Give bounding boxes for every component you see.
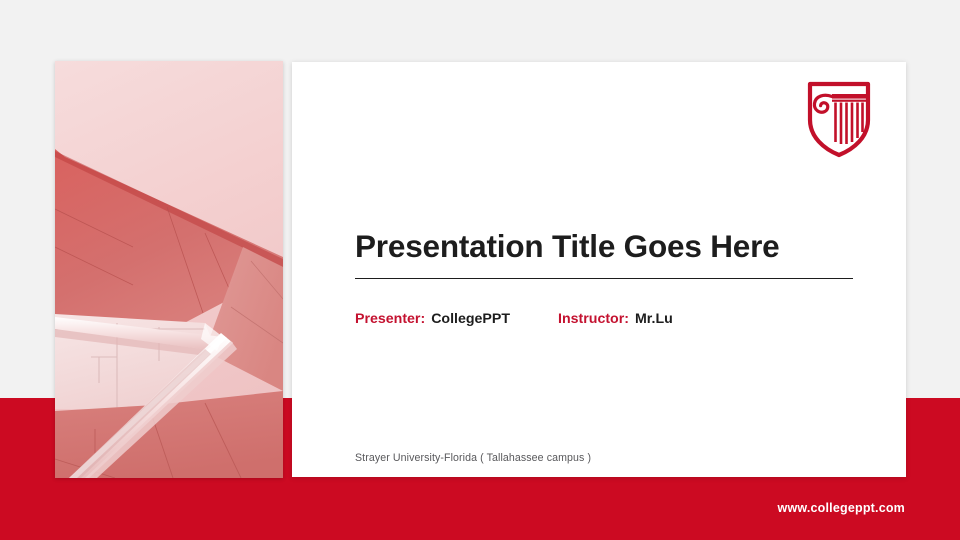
presenter-label: Presenter: — [355, 311, 425, 327]
meta-item-presenter: Presenter: CollegePPT — [355, 311, 510, 327]
slide-content-card: Presentation Title Goes Here Presenter: … — [292, 62, 906, 477]
shield-column-icon — [806, 80, 872, 158]
cover-photo-card — [55, 61, 283, 478]
instructor-value: Mr.Lu — [635, 311, 673, 327]
footer-website-url[interactable]: www.collegeppt.com — [778, 501, 905, 515]
title-divider — [355, 278, 853, 279]
shield-column-icon-svg — [806, 80, 872, 158]
instructor-label: Instructor: — [558, 311, 629, 327]
meta-item-instructor: Instructor: Mr.Lu — [558, 311, 673, 327]
slide-stage: www.collegeppt.com — [0, 0, 960, 540]
presenter-value: CollegePPT — [431, 311, 510, 327]
institution-caption: Strayer University-Florida ( Tallahassee… — [355, 452, 591, 464]
architecture-photo — [55, 61, 283, 478]
page-title: Presentation Title Goes Here — [355, 228, 855, 264]
title-block: Presentation Title Goes Here — [355, 228, 855, 279]
meta-row: Presenter: CollegePPT Instructor: Mr.Lu — [355, 311, 673, 327]
